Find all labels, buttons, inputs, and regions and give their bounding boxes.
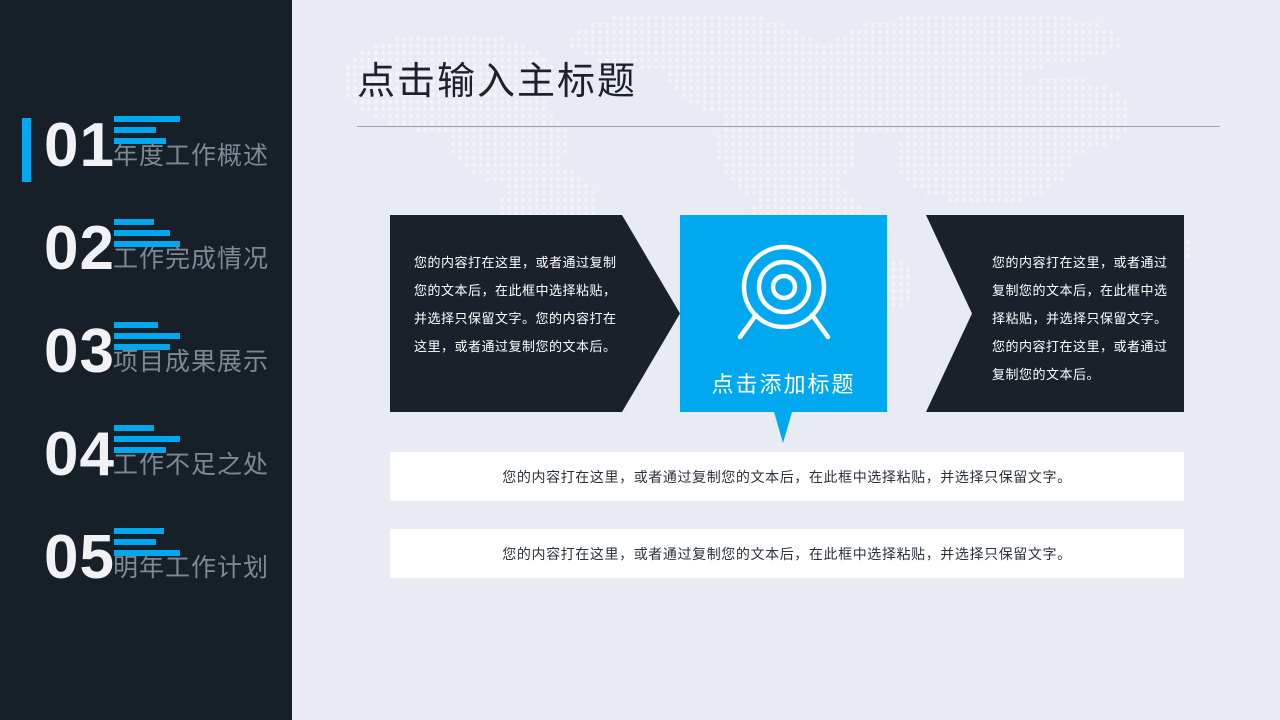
bottom-bar-2-text: 您的内容打在这里，或者通过复制您的文本后，在此框中选择粘贴，并选择只保留文字。 (502, 544, 1071, 564)
sidebar-item-label: 工作完成情况 (113, 239, 269, 275)
sidebar-item-number: 04 (44, 409, 115, 501)
left-card-text: 您的内容打在这里，或者通过复制您的文本后，在此框中选择粘贴，并选择只保留文字。您… (414, 249, 626, 361)
sidebar-item-01[interactable]: 01年度工作概述 (0, 104, 292, 196)
sidebar-item-number: 03 (44, 306, 115, 398)
sidebar-item-label: 工作不足之处 (113, 445, 269, 481)
sidebar-item-label: 明年工作计划 (113, 548, 269, 584)
sidebar-item-number: 01 (44, 100, 115, 192)
center-card-label: 点击添加标题 (680, 367, 887, 399)
sidebar-item-label: 年度工作概述 (113, 136, 269, 172)
sidebar-active-indicator (22, 118, 31, 182)
target-icon (726, 237, 842, 353)
sidebar-item-02[interactable]: 02工作完成情况 (0, 207, 292, 299)
sidebar-navigation: 01年度工作概述02工作完成情况03项目成果展示04工作不足之处05明年工作计划 (0, 0, 292, 720)
right-card-text: 您的内容打在这里，或者通过复制您的文本后，在此框中选择粘贴，并选择只保留文字。您… (992, 249, 1170, 389)
sidebar-item-03[interactable]: 03项目成果展示 (0, 310, 292, 402)
bottom-bar-1[interactable]: 您的内容打在这里，或者通过复制您的文本后，在此框中选择粘贴，并选择只保留文字。 (390, 452, 1184, 501)
sidebar-item-label: 项目成果展示 (113, 342, 269, 378)
sidebar-item-number: 05 (44, 512, 115, 604)
title-divider (357, 126, 1220, 127)
left-content-card[interactable]: 您的内容打在这里，或者通过复制您的文本后，在此框中选择粘贴，并选择只保留文字。您… (390, 215, 680, 412)
bottom-bar-1-text: 您的内容打在这里，或者通过复制您的文本后，在此框中选择粘贴，并选择只保留文字。 (502, 467, 1071, 487)
sidebar-item-number: 02 (44, 203, 115, 295)
center-highlight-card[interactable]: 点击添加标题 (680, 215, 887, 443)
sidebar-item-05[interactable]: 05明年工作计划 (0, 516, 292, 608)
page-title: 点击输入主标题 (357, 50, 637, 105)
bottom-bar-2[interactable]: 您的内容打在这里，或者通过复制您的文本后，在此框中选择粘贴，并选择只保留文字。 (390, 529, 1184, 578)
sidebar-item-04[interactable]: 04工作不足之处 (0, 413, 292, 505)
